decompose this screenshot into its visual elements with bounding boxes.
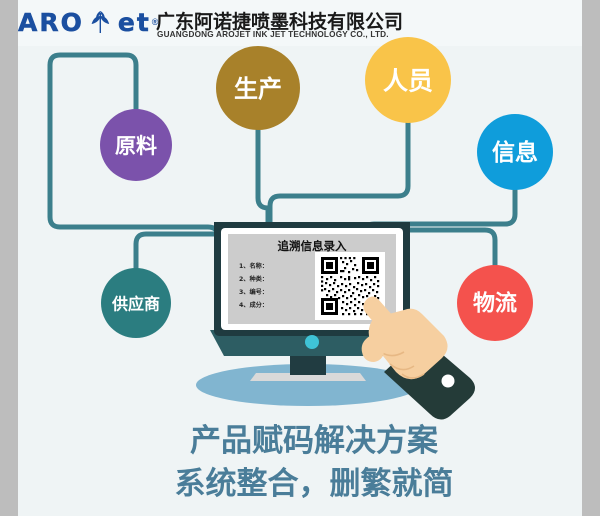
node-label-logistics: 物流 xyxy=(473,291,517,317)
node-label-raw-material: 原料 xyxy=(115,134,157,158)
node-label-supplier: 供应商 xyxy=(111,295,160,314)
screen-list-item: 4、成分： xyxy=(239,301,268,309)
node-label-personnel: 人员 xyxy=(383,67,433,96)
node-production[interactable]: 生产 xyxy=(216,46,300,130)
slogan-line-1: 产品赋码解决方案 xyxy=(190,423,439,459)
node-label-production: 生产 xyxy=(234,75,282,103)
node-personnel[interactable]: 人员 xyxy=(365,37,451,123)
poster-canvas: ARO et ® 广东阿诺捷喷墨科技有限公司 GUANGDONG AROJET … xyxy=(18,0,582,516)
connector-supplier xyxy=(136,234,224,268)
node-label-information: 信息 xyxy=(492,139,538,166)
node-supplier[interactable]: 供应商 xyxy=(101,268,171,338)
node-raw-material[interactable]: 原料 xyxy=(100,109,172,181)
node-logistics[interactable]: 物流 xyxy=(457,265,533,341)
screen-list-item: 2、种类： xyxy=(239,275,268,283)
slogan-line-2: 系统整合，删繁就简 xyxy=(175,466,454,502)
power-led-icon xyxy=(305,335,319,349)
node-information[interactable]: 信息 xyxy=(477,114,553,190)
screen-title: 追溯信息录入 xyxy=(278,239,347,253)
screen-list-item: 3、编号： xyxy=(239,288,268,296)
infographic-scene: 追溯信息录入 1、名称： 2、种类： 3、编号： 4、成分： xyxy=(18,0,582,516)
screen-list-item: 1、名称： xyxy=(239,262,268,270)
